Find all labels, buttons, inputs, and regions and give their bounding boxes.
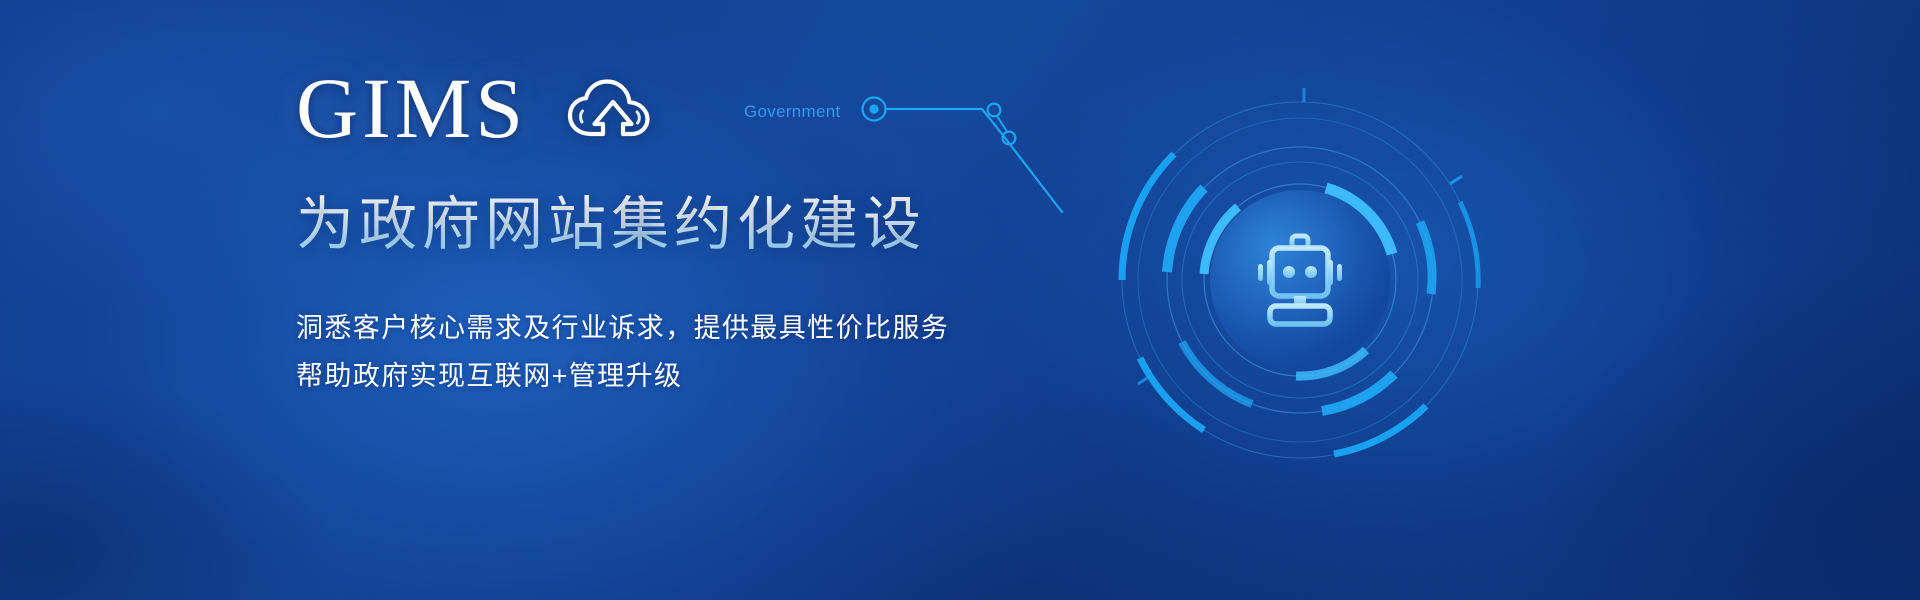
subtitle-line-1: 洞悉客户核心需求及行业诉求，提供最具性价比服务 — [296, 304, 1056, 352]
hero-banner: GIMS 为政府网站集约化建设 洞悉客户核心需求及行业诉求，提供最具性价比服务 … — [0, 0, 1920, 600]
tech-ring-graphic — [1000, 100, 1600, 520]
robot-icon — [1246, 226, 1354, 334]
subtitle-line-2: 帮助政府实现互联网+管理升级 — [296, 352, 1056, 400]
brand-row: GIMS — [296, 60, 1056, 156]
subtitle-block: 洞悉客户核心需求及行业诉求，提供最具性价比服务 帮助政府实现互联网+管理升级 — [296, 304, 1056, 400]
robot-avatar — [1210, 190, 1390, 370]
headline: 为政府网站集约化建设 — [296, 190, 1056, 260]
cloud-upload-icon — [567, 76, 659, 140]
banner-copy: GIMS 为政府网站集约化建设 洞悉客户核心需求及行业诉求，提供最具性价比服务 … — [296, 60, 1056, 400]
brand-title: GIMS — [296, 60, 527, 156]
